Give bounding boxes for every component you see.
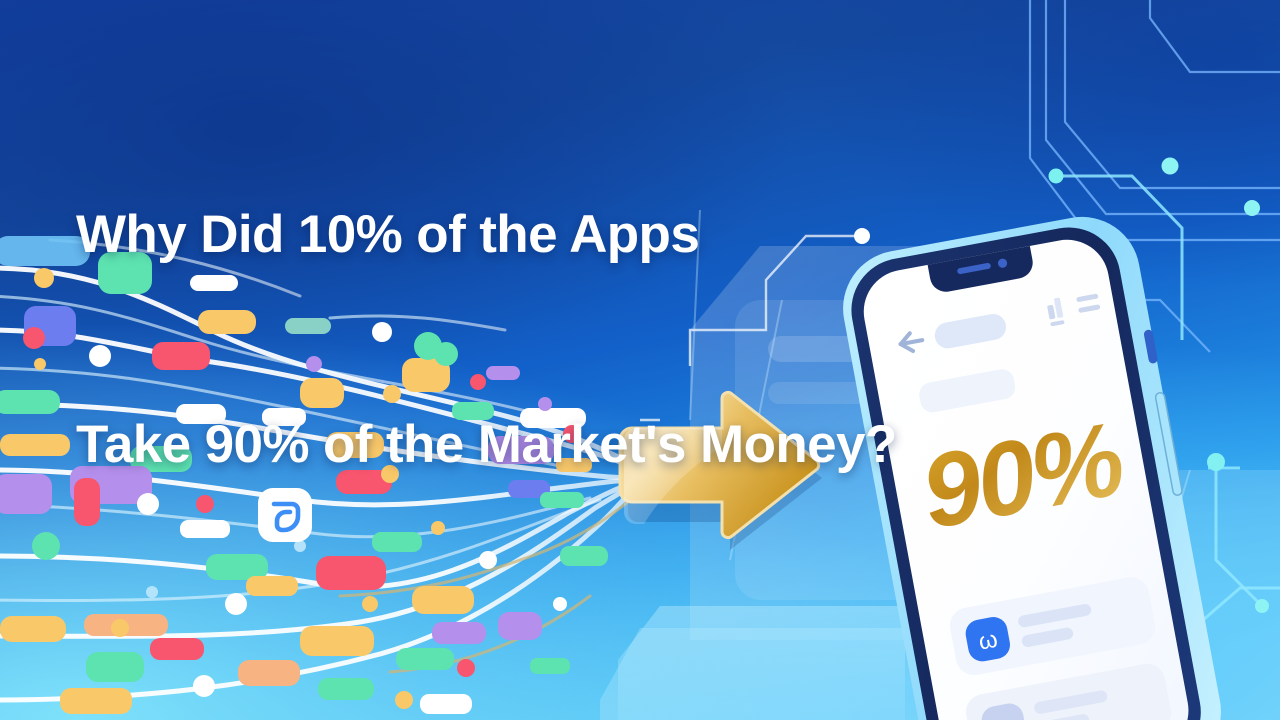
infographic-canvas: 90% ω Why Did 10% of the Apps Take 90% o… [0,0,1280,720]
page-title-line-1: Why Did 10% of the Apps [76,200,1036,270]
page-title: Why Did 10% of the Apps Take 90% of the … [76,60,1036,620]
page-title-line-2: Take 90% of the Market's Money? [76,410,1036,480]
